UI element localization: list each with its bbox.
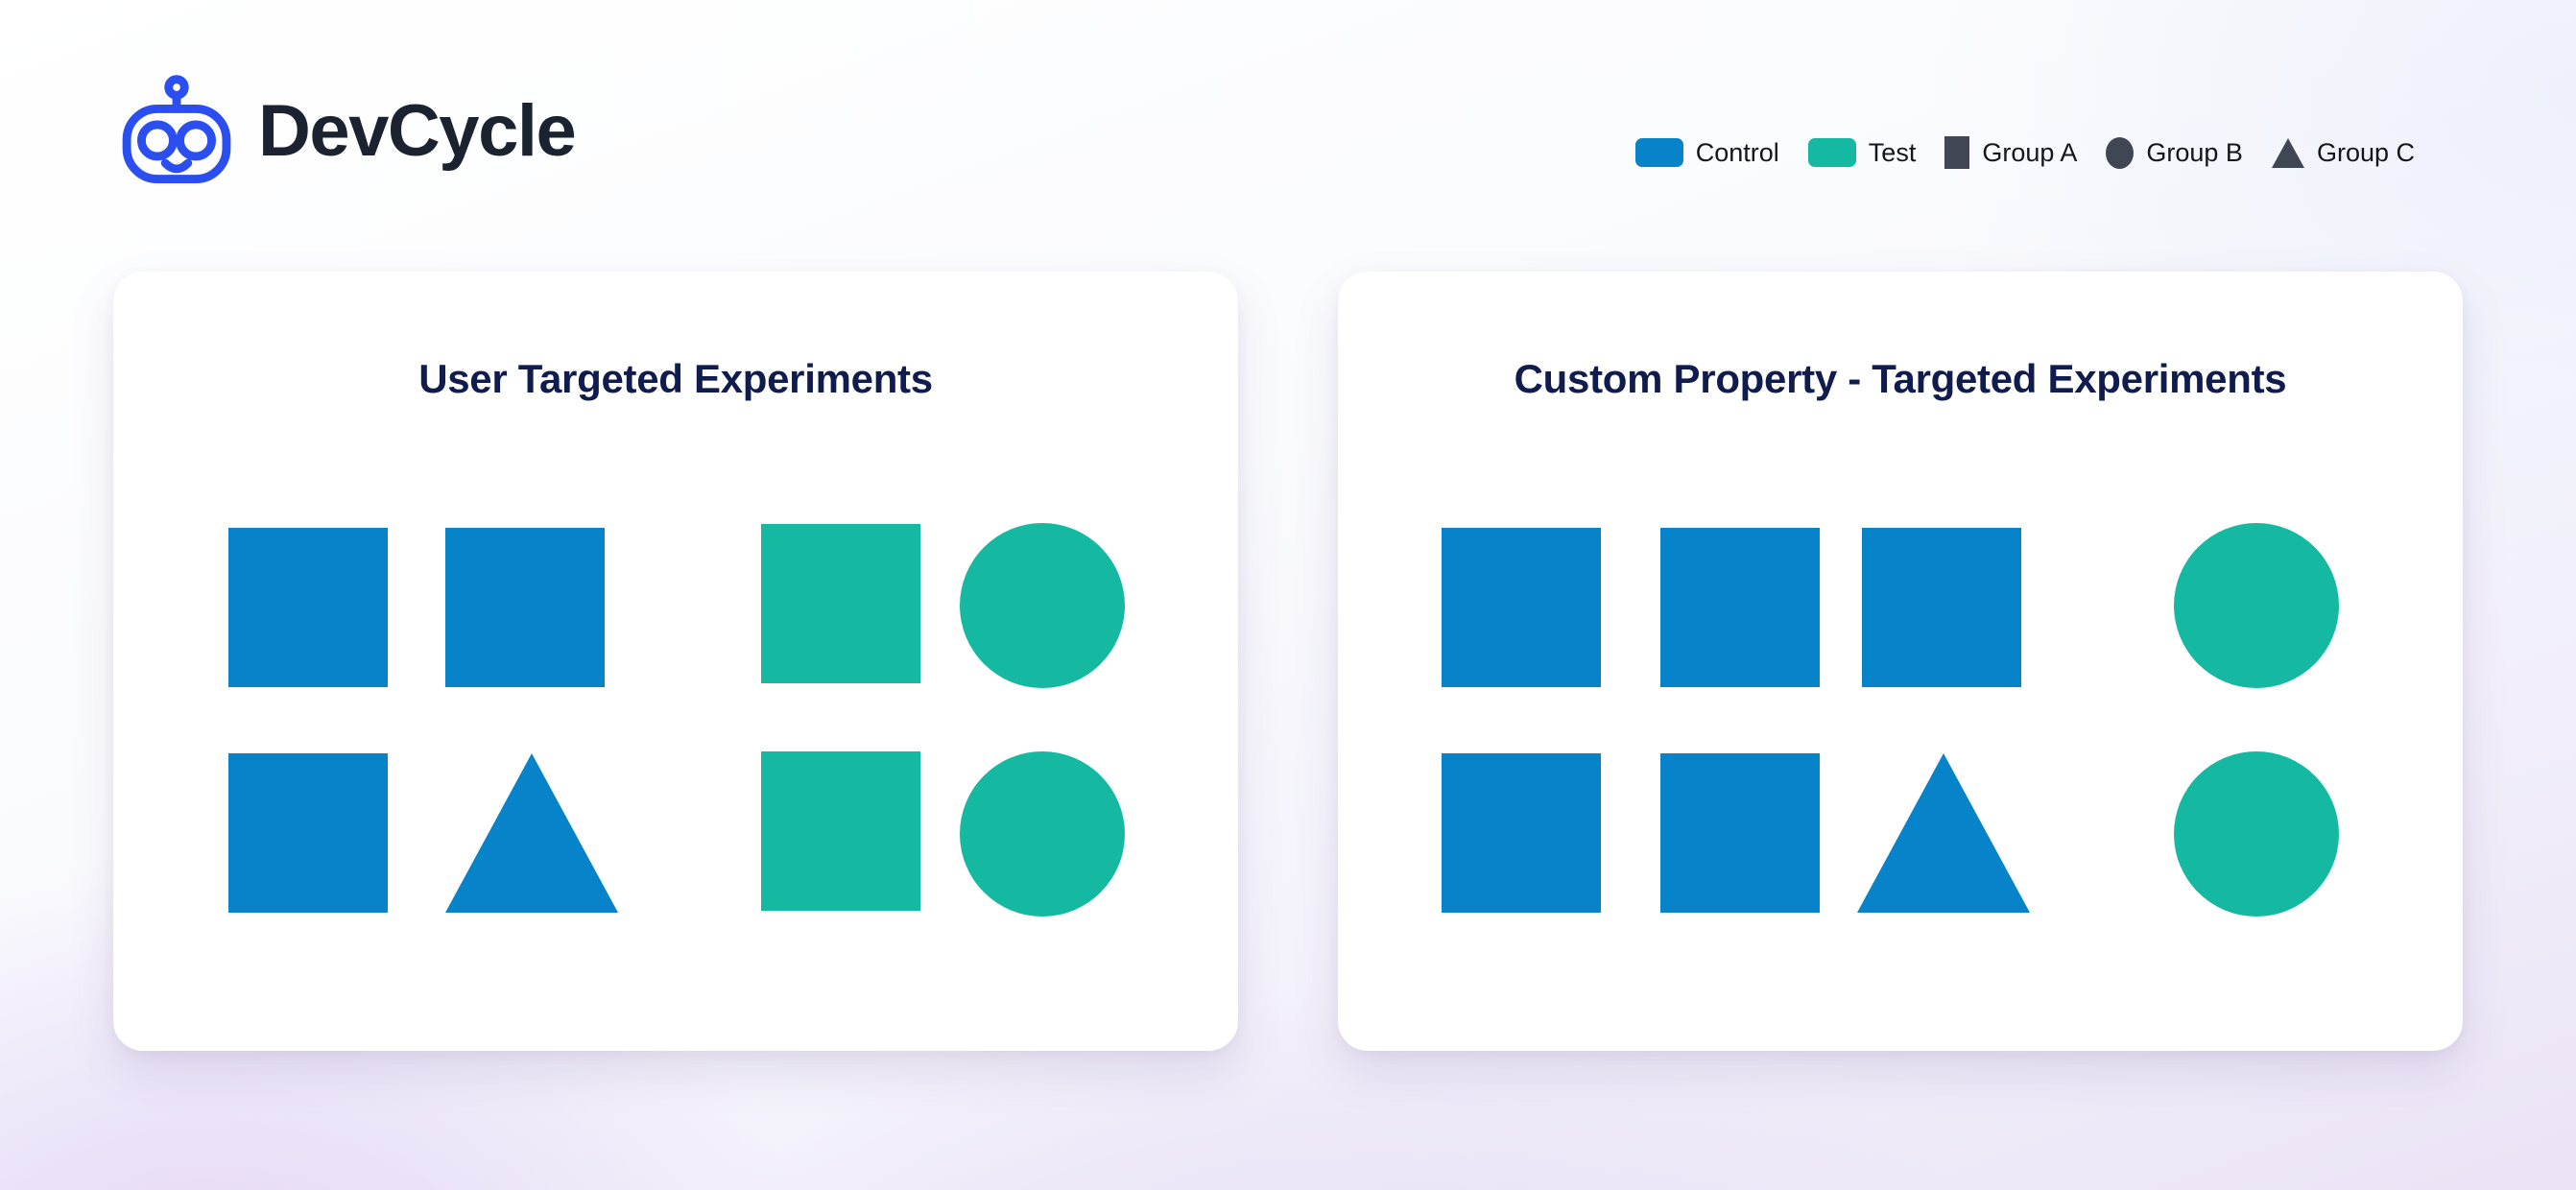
test-swatch-icon (1808, 138, 1856, 167)
legend-label-group-c: Group C (2317, 140, 2415, 166)
legend-label-test: Test (1869, 140, 1917, 166)
shape-square-control (228, 528, 388, 687)
shape-square-test (761, 524, 920, 683)
shape-square-control (1442, 528, 1601, 687)
legend-item-control[interactable]: Control (1635, 138, 1779, 167)
shape-square-control (1862, 528, 2021, 687)
shape-square-control (1442, 753, 1601, 913)
brand-wordmark: DevCycle (258, 95, 575, 168)
brand-logo[interactable]: DevCycle (120, 75, 575, 188)
legend-item-test[interactable]: Test (1808, 138, 1917, 167)
card-title-user-targeted: User Targeted Experiments (113, 356, 1238, 402)
legend: Control Test Group A Group B Group C (1635, 136, 2415, 169)
legend-item-group-b[interactable]: Group B (2106, 137, 2243, 169)
group-a-square-icon (1944, 136, 1969, 169)
legend-label-control: Control (1696, 140, 1779, 166)
shape-circle-test (960, 751, 1125, 916)
legend-item-group-c[interactable]: Group C (2272, 138, 2415, 168)
shape-triangle-control (445, 753, 618, 913)
shape-circle-test (960, 523, 1125, 688)
legend-item-group-a[interactable]: Group A (1944, 136, 2077, 169)
shape-triangle-control (1857, 753, 2030, 913)
card-title-custom-property-targeted: Custom Property - Targeted Experiments (1338, 356, 2463, 402)
shape-square-control (1660, 528, 1820, 687)
shape-circle-test (2174, 751, 2339, 916)
group-c-triangle-icon (2272, 138, 2304, 168)
shape-square-control (445, 528, 605, 687)
legend-label-group-b: Group B (2146, 140, 2243, 166)
shape-circle-test (2174, 523, 2339, 688)
page-header: DevCycle Control Test Group A Group B (0, 0, 2576, 259)
legend-label-group-a: Group A (1982, 140, 2077, 166)
group-b-circle-icon (2106, 137, 2134, 169)
page-background: DevCycle Control Test Group A Group B (0, 0, 2576, 1190)
devcycle-robot-icon (120, 75, 233, 188)
shape-square-control (1660, 753, 1820, 913)
shape-square-control (228, 753, 388, 913)
control-swatch-icon (1635, 138, 1683, 167)
shape-square-test (761, 751, 920, 911)
